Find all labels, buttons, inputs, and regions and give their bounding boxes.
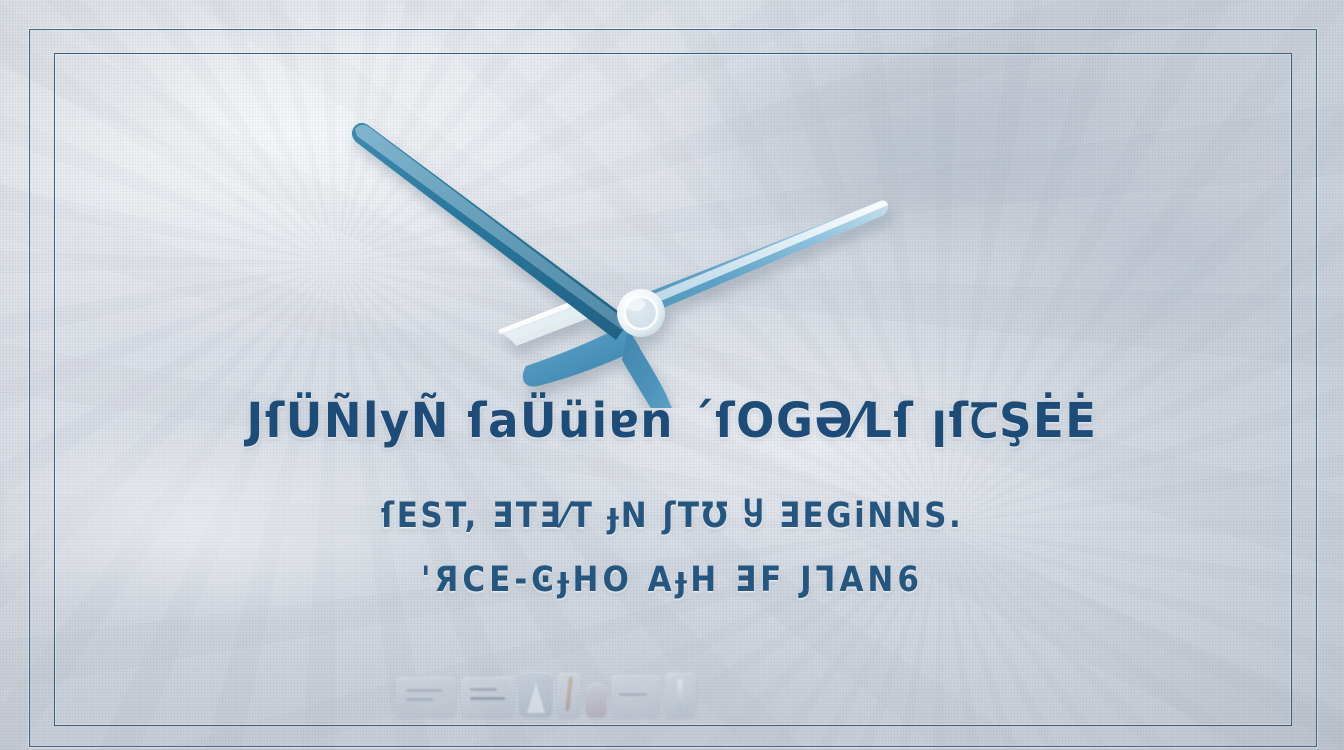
footer-card-cone bbox=[519, 672, 552, 717]
cone-shape-icon bbox=[527, 683, 545, 713]
headline-text-block: JſÜÑlyÑ ſaÜüiɐn ´ſOGƏ⁄Lſ ꞁſꞆŞĖĖ ſEST, ƎT… bbox=[0, 398, 1344, 596]
panel-line bbox=[406, 698, 433, 701]
page-title: JſÜÑlyÑ ſaÜüiɐn ´ſOGƏ⁄Lſ ꞁſꞆŞĖĖ bbox=[0, 397, 1344, 445]
footer-card-panel-3 bbox=[611, 675, 660, 717]
scissors-illustration bbox=[330, 98, 920, 408]
footer-card-panel-2 bbox=[461, 677, 514, 717]
slide-canvas: JſÜÑlyÑ ſaÜüiɐn ´ſOGƏ⁄Lſ ꞁſꞆŞĖĖ ſEST, ƎT… bbox=[0, 0, 1344, 750]
spindle-icon bbox=[678, 679, 683, 710]
footer-card-needle bbox=[557, 673, 581, 717]
footer-card-panel-1 bbox=[396, 677, 456, 717]
panel-line bbox=[406, 689, 442, 692]
panel-line bbox=[619, 693, 648, 696]
subtitle-line-1: ſEST, ƎTƎ⁄T ɟN ʃTƱ Ⴘ ƎEGiNNS. bbox=[0, 499, 1344, 534]
needle-icon bbox=[565, 677, 573, 712]
footer-icon-strip bbox=[396, 671, 696, 717]
subtitle-line-2: 'ЯCE-ϾɟHO AɟH ƎF ЈꞀAN6 bbox=[0, 563, 1344, 598]
footer-card-capsule bbox=[586, 683, 606, 717]
panel-line bbox=[470, 688, 498, 691]
panel-line bbox=[470, 697, 505, 700]
footer-card-spindle bbox=[665, 673, 696, 717]
